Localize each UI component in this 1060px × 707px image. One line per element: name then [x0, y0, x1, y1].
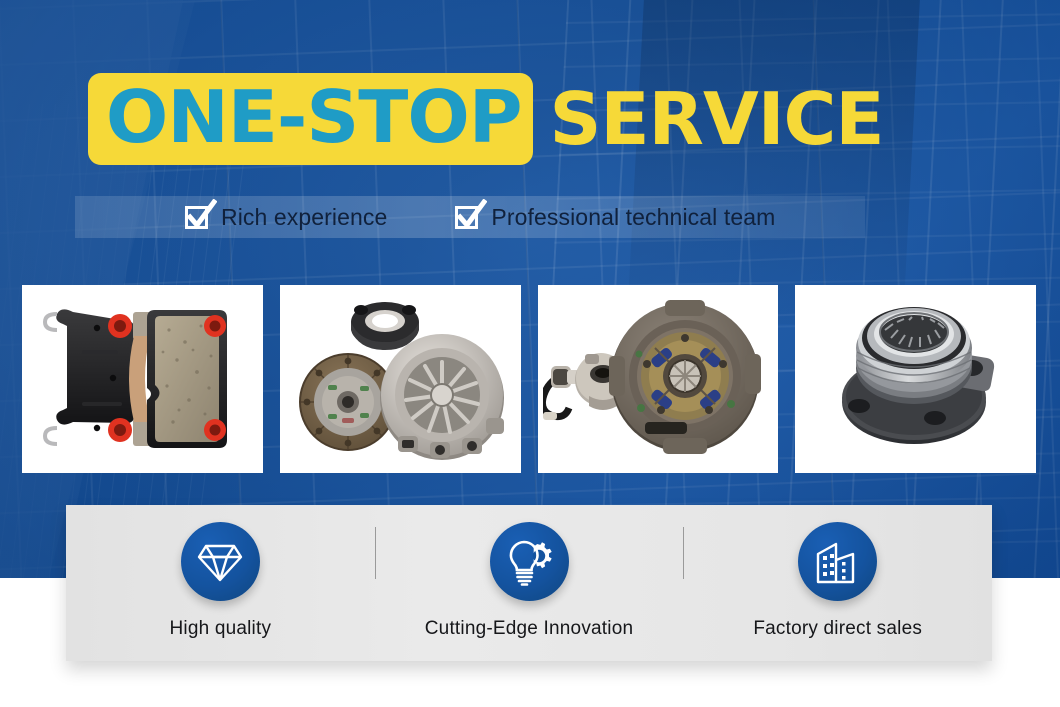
- headline-highlight-word: ONE-STOP: [106, 81, 522, 153]
- feature-item-innovation[interactable]: Cutting-Edge Innovation: [375, 505, 684, 661]
- clutch-assembly-image: [543, 290, 773, 468]
- feature-item-factory-direct-sales[interactable]: Factory direct sales: [683, 505, 992, 661]
- product-card-clutch-kit[interactable]: [280, 285, 521, 473]
- one-stop-service-banner: ONE-STOP SERVICE Rich experience Profess…: [0, 0, 1060, 707]
- feature-bar: High quality: [66, 505, 992, 661]
- headline: ONE-STOP SERVICE: [88, 72, 884, 166]
- check-square-icon: [185, 204, 211, 230]
- factory-buildings-icon: [798, 522, 877, 601]
- diamond-icon: [181, 522, 260, 601]
- feature-label: Cutting-Edge Innovation: [425, 618, 633, 640]
- subfeature-item-professional-team: Professional technical team: [455, 196, 775, 238]
- product-card-wheel-hub-bearing[interactable]: [795, 285, 1036, 473]
- feature-label: High quality: [169, 618, 271, 640]
- wheel-hub-bearing-image: [801, 290, 1031, 468]
- subfeature-label: Professional technical team: [491, 204, 775, 231]
- product-card-brake-pad-set[interactable]: [22, 285, 263, 473]
- subfeature-strip: Rich experience Professional technical t…: [75, 196, 865, 238]
- headline-tail-word: SERVICE: [549, 83, 883, 155]
- subfeature-label: Rich experience: [221, 204, 387, 231]
- subfeature-item-rich-experience: Rich experience: [185, 196, 387, 238]
- feature-item-high-quality[interactable]: High quality: [66, 505, 375, 661]
- check-square-icon: [455, 204, 481, 230]
- product-card-row: [22, 285, 1036, 473]
- lightbulb-gear-icon: [490, 522, 569, 601]
- product-card-clutch-assembly[interactable]: [538, 285, 779, 473]
- clutch-kit-image: [290, 290, 510, 468]
- headline-highlight-box: ONE-STOP: [88, 73, 533, 165]
- brake-pad-set-image: [27, 290, 257, 468]
- feature-label: Factory direct sales: [753, 618, 922, 640]
